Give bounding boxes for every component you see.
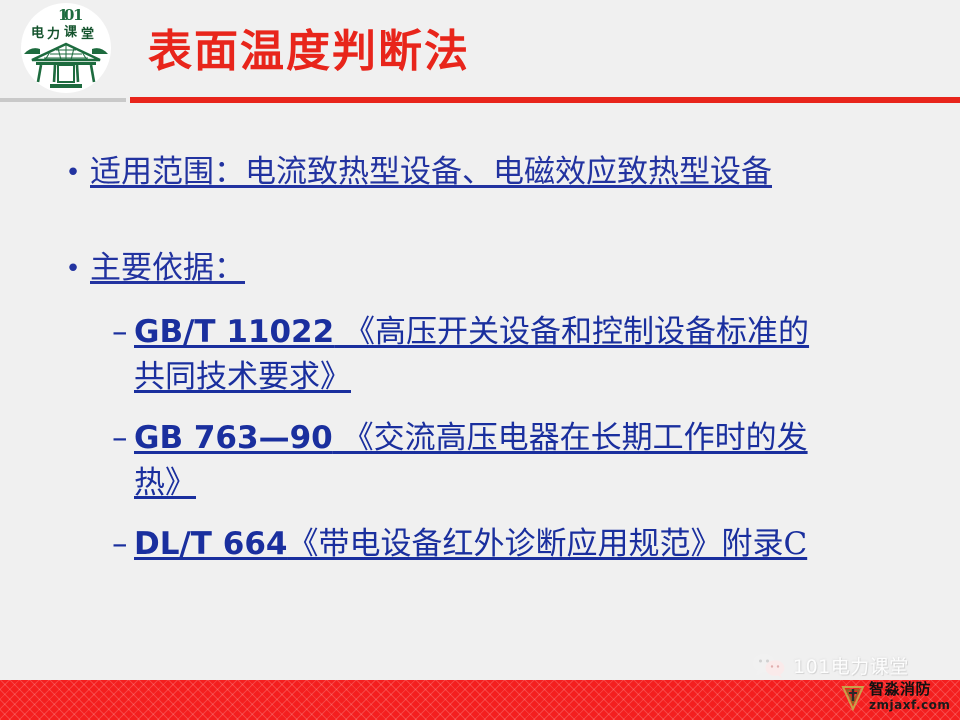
site-watermark: 智淼消防 zmjaxf.com [840,682,950,711]
spacer [0,296,960,310]
standard-title: 《带电设备红外诊断应用规范》附录C [287,526,807,562]
wechat-icon [752,653,786,679]
footer-red-band [0,680,960,720]
divider-red-segment [130,97,960,103]
page-title: 表面温度判断法 [148,28,470,76]
svg-text:堂: 堂 [81,26,94,42]
sub-item-text: GB/T 11022 《高压开关设备和控制设备标准的共同技术要求》 [134,310,834,400]
slide-header: 1 0 1 电 力 课 堂 [0,0,960,108]
spacer [0,508,960,522]
svg-text:电: 电 [31,25,44,41]
standard-code: DL/T 664 [134,526,287,562]
zhimiao-logo-icon [840,683,866,711]
sub-item-gbt11022: – GB/T 11022 《高压开关设备和控制设备标准的共同技术要求》 [0,310,960,400]
svg-text:力: 力 [47,26,60,42]
sub-item-marker: – [0,522,134,567]
wechat-account-name: 101电力课堂 [793,652,909,679]
sub-item-text: DL/T 664《带电设备红外诊断应用规范》附录C [134,522,834,567]
header-divider [0,96,960,104]
brand-logo: 1 0 1 电 力 课 堂 [14,2,118,98]
standard-code: GB/T 11022 [134,314,334,350]
svg-text:1: 1 [73,6,83,24]
sub-item-gb763: – GB 763—90 《交流高压电器在长期工作时的发热》 [0,416,960,506]
bullet-text-scope: 适用范围：电流致热型设备、电磁效应致热型设备 [90,150,830,194]
bullet-text-basis: 主要依据： [90,246,830,290]
spacer [0,200,960,246]
slide-body: • 适用范围：电流致热型设备、电磁效应致热型设备 • 主要依据： – GB/T … [0,150,960,569]
bullet-marker: • [0,246,90,292]
standard-code: GB 763—90 [134,420,333,456]
bullet-marker: • [0,150,90,196]
sub-item-dlt664: – DL/T 664《带电设备红外诊断应用规范》附录C [0,522,960,567]
sub-item-marker: – [0,310,134,355]
watermark-brand-name: 智淼消防 [869,682,950,697]
sub-item-text: GB 763—90 《交流高压电器在长期工作时的发热》 [134,416,834,506]
divider-gray-segment [0,98,126,102]
svg-text:课: 课 [64,25,78,40]
watermark-text-block: 智淼消防 zmjaxf.com [869,682,950,711]
watermark-url: zmjaxf.com [869,699,950,711]
bullet-item-scope: • 适用范围：电流致热型设备、电磁效应致热型设备 [0,150,960,196]
spacer [0,402,960,416]
bullet-item-basis: • 主要依据： [0,246,960,292]
sub-item-marker: – [0,416,134,461]
presentation-slide: 1 0 1 电 力 课 堂 [0,0,960,720]
wechat-brand-mark: 101电力课堂 [752,652,909,679]
